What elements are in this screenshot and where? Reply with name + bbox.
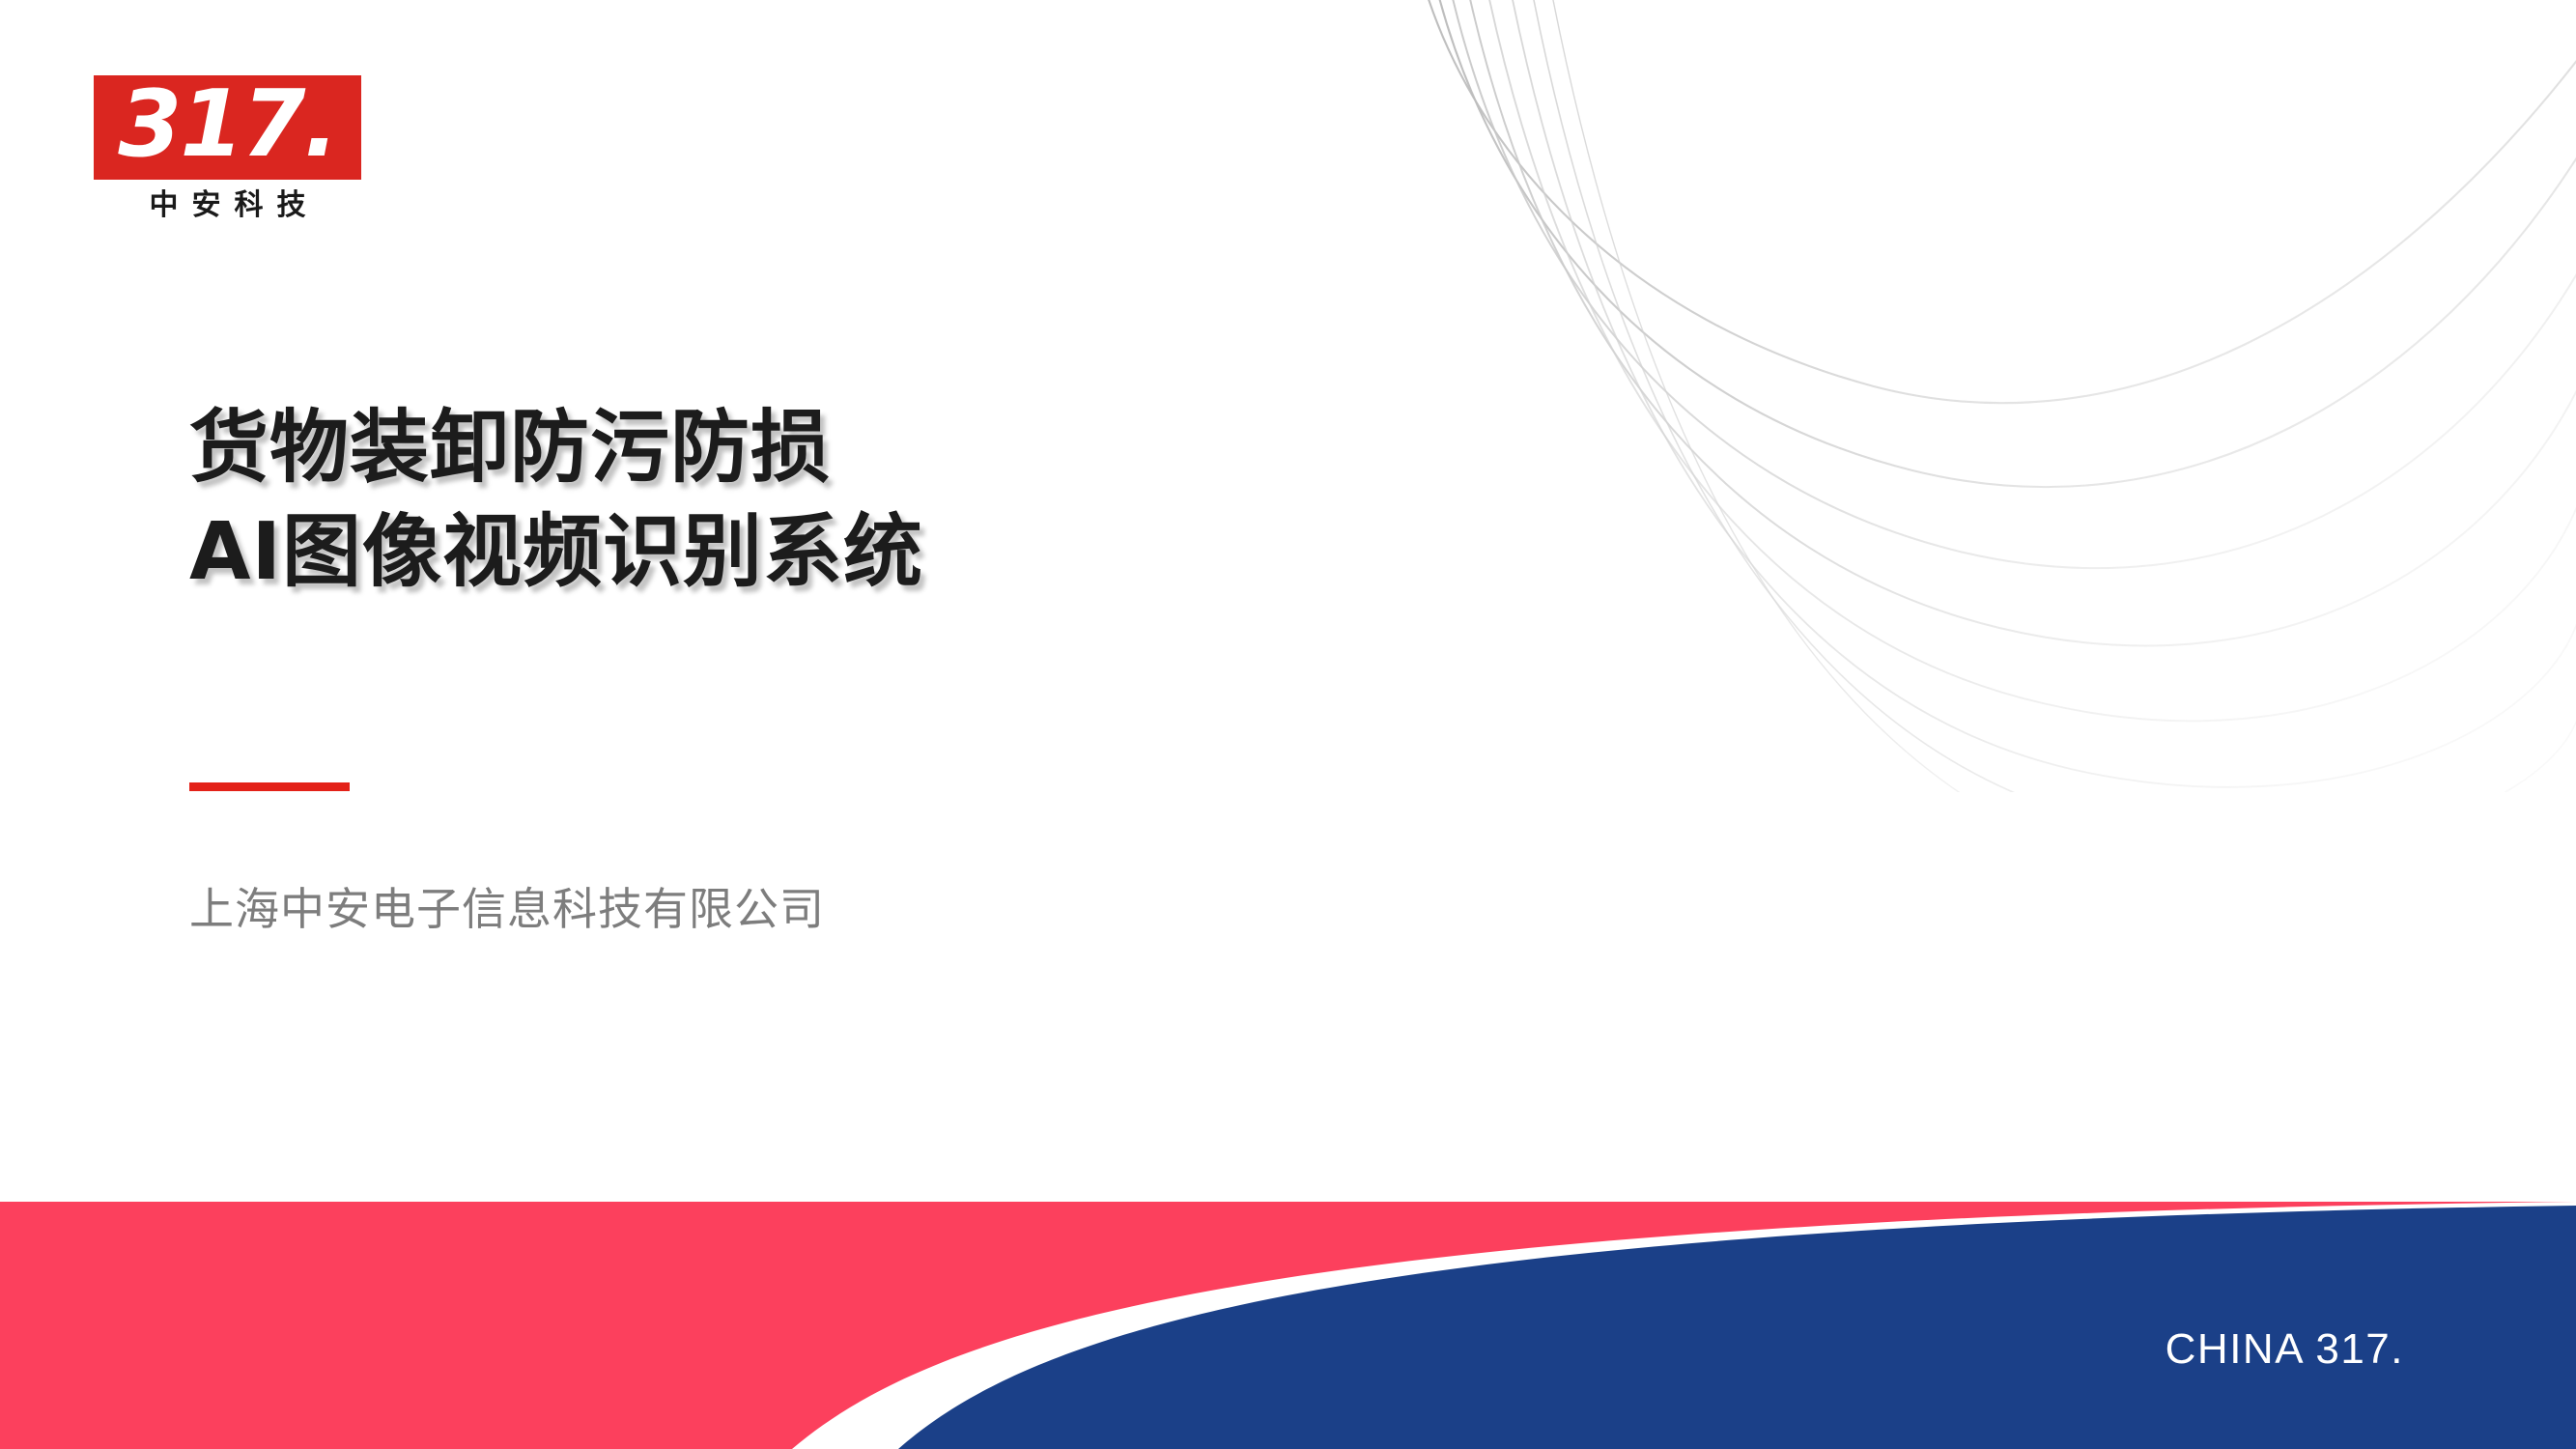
logo-subtext: 中安科技	[94, 189, 361, 221]
title-divider-rule	[189, 782, 350, 791]
page-title-line-2: AI图像视频识别系统	[189, 500, 1542, 605]
brand-logo: 317. 中安科技	[94, 75, 361, 221]
slide-canvas: 317. 中安科技 货物装卸防污防损 AI图像视频识别系统 上海中安电子信息科技…	[0, 0, 2576, 1449]
logo-mark-text: 317.	[118, 83, 336, 167]
footer-brand-label: CHINA 317.	[2166, 1325, 2404, 1374]
footer-band: CHINA 317.	[0, 1202, 2576, 1449]
logo-mark-box: 317.	[94, 75, 361, 180]
page-title: 货物装卸防污防损 AI图像视频识别系统	[189, 396, 1542, 605]
company-name: 上海中安电子信息科技有限公司	[189, 874, 825, 938]
page-title-line-1: 货物装卸防污防损	[189, 396, 1542, 500]
